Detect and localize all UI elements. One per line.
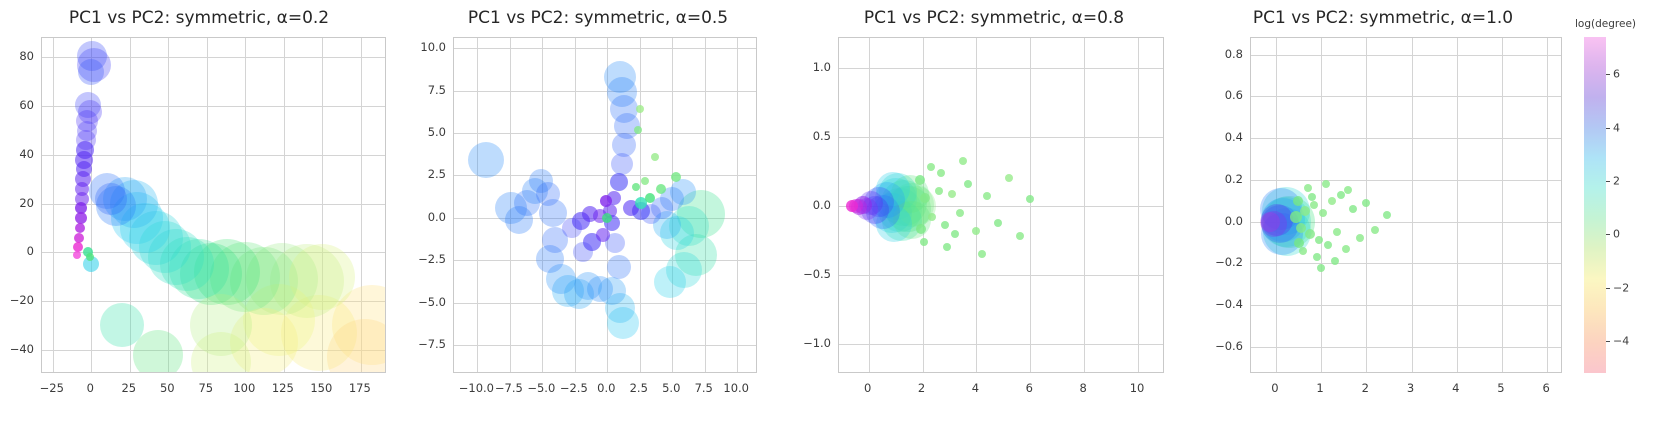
y-tick-label: −2.5 xyxy=(418,252,446,266)
gridline-horizontal xyxy=(1251,263,1561,264)
scatter-point xyxy=(1261,198,1305,242)
x-tick-label: −7.5 xyxy=(495,381,523,395)
y-tick-label: 0.4 xyxy=(1225,130,1243,144)
gridline-vertical xyxy=(607,38,608,372)
x-tick-label: 5.0 xyxy=(662,381,680,395)
scatter-point xyxy=(468,142,504,178)
y-tick-label: −0.2 xyxy=(1215,255,1243,269)
x-tick-label: 100 xyxy=(233,381,255,395)
x-tick-label: 6 xyxy=(1026,381,1033,395)
y-tick-label: 0 xyxy=(27,244,34,258)
scatter-point xyxy=(607,307,639,339)
x-tick-label: 10 xyxy=(1130,381,1145,395)
scatter-point xyxy=(111,192,163,244)
gridline-horizontal xyxy=(42,350,385,351)
x-tick-label: 0 xyxy=(1271,381,1278,395)
scatter-point xyxy=(95,183,127,215)
scatter-point xyxy=(1005,174,1013,182)
scatter-point xyxy=(978,250,986,258)
y-tick-label: 0.0 xyxy=(813,198,831,212)
x-tick-label: −2.5 xyxy=(560,381,588,395)
gridline-vertical xyxy=(477,38,478,372)
scatter-point xyxy=(859,191,883,215)
scatter-point xyxy=(607,77,637,107)
gridline-vertical xyxy=(1457,38,1458,372)
y-tick-label: −0.5 xyxy=(803,267,831,281)
scatter-point xyxy=(641,177,649,185)
colorbar-tickmark xyxy=(1606,341,1610,342)
x-tick-label: −10.0 xyxy=(459,381,494,395)
plot-area-2[interactable] xyxy=(453,37,757,373)
scatter-point xyxy=(598,277,626,305)
gridline-horizontal xyxy=(839,275,1163,276)
scatter-point xyxy=(190,294,252,356)
scatter-point xyxy=(1296,223,1306,233)
gridline-vertical xyxy=(361,38,362,372)
scatter-point xyxy=(866,195,900,229)
scatter-point xyxy=(76,110,98,132)
gridline-vertical xyxy=(737,38,738,372)
gridline-horizontal xyxy=(454,345,756,346)
x-tick-label: −5.0 xyxy=(527,381,555,395)
scatter-point xyxy=(943,243,951,251)
scatter-point xyxy=(994,219,1002,227)
scatter-point xyxy=(651,153,659,161)
scatter-point xyxy=(1331,257,1339,265)
scatter-point xyxy=(1324,241,1332,249)
x-tick-label: 0 xyxy=(864,381,871,395)
gridline-vertical xyxy=(1412,38,1413,372)
colorbar-tickmark xyxy=(1606,288,1610,289)
scatter-point xyxy=(635,197,647,209)
scatter-point xyxy=(607,191,621,205)
gridline-horizontal xyxy=(454,91,756,92)
gridline-horizontal xyxy=(454,218,756,219)
plot-area-4[interactable] xyxy=(1250,37,1562,373)
x-tick-label: 3 xyxy=(1407,381,1414,395)
scatter-point xyxy=(632,183,640,191)
x-tick-label: 2.5 xyxy=(630,381,648,395)
scatter-point xyxy=(1342,245,1350,253)
scatter-point xyxy=(941,221,949,229)
scatter-point xyxy=(890,183,934,227)
x-tick-label: 25 xyxy=(121,381,136,395)
scatter-point xyxy=(881,180,927,226)
scatter-point xyxy=(1261,205,1299,243)
gridline-vertical xyxy=(1366,38,1367,372)
scatter-point xyxy=(964,180,972,188)
scatter-point xyxy=(1383,211,1391,219)
scatter-point xyxy=(675,234,717,276)
scatter-point xyxy=(1328,197,1336,205)
scatter-point xyxy=(614,113,640,139)
gridline-vertical xyxy=(640,38,641,372)
scatter-point xyxy=(611,153,633,175)
x-tick-label: 4 xyxy=(972,381,979,395)
y-tick-label: −0.6 xyxy=(1215,339,1243,353)
scatter-point xyxy=(1337,191,1345,199)
scatter-point xyxy=(927,163,935,171)
scatter-point xyxy=(522,178,548,204)
colorbar-title: log(degree) xyxy=(1575,18,1636,30)
scatter-point xyxy=(1344,186,1352,194)
scatter-point xyxy=(103,177,147,221)
panel-3: PC1 vs PC2: symmetric, α=0.80246810−1.0−… xyxy=(798,0,1190,432)
gridline-vertical xyxy=(1138,38,1139,372)
scatter-point xyxy=(951,230,959,238)
scatter-point xyxy=(169,239,229,299)
gridline-vertical xyxy=(705,38,706,372)
scatter-point xyxy=(75,171,91,187)
x-tick-label: 6 xyxy=(1543,381,1550,395)
scatter-point xyxy=(656,184,666,194)
gridline-horizontal xyxy=(454,303,756,304)
scatter-point xyxy=(230,247,298,315)
scatter-point xyxy=(1262,187,1310,235)
y-tick-label: 40 xyxy=(19,147,34,161)
gridline-vertical xyxy=(1321,38,1322,372)
scatter-point xyxy=(1263,208,1311,256)
y-tick-label: 5.0 xyxy=(428,125,446,139)
x-tick-label: 150 xyxy=(310,381,332,395)
x-tick-label: 125 xyxy=(272,381,294,395)
scatter-point xyxy=(605,233,625,253)
colorbar: log(degree)−4−20246 xyxy=(1575,0,1656,432)
colorbar-tick-label: 6 xyxy=(1613,68,1620,81)
scatter-point xyxy=(583,233,601,251)
gridline-horizontal xyxy=(839,137,1163,138)
gridline-horizontal xyxy=(454,260,756,261)
y-tick-label: 2.5 xyxy=(428,167,446,181)
gridline-horizontal xyxy=(42,301,385,302)
panel-title-1: PC1 vs PC2: symmetric, α=0.2 xyxy=(0,8,398,28)
scatter-point xyxy=(861,196,889,224)
scatter-point xyxy=(281,295,357,371)
gridline-vertical xyxy=(923,38,924,372)
scatter-point xyxy=(76,161,92,177)
gridline-vertical xyxy=(1030,38,1031,372)
scatter-point xyxy=(75,92,101,118)
scatter-point xyxy=(536,182,560,206)
gridline-vertical xyxy=(245,38,246,372)
gridline-horizontal xyxy=(1251,138,1561,139)
scatter-point xyxy=(230,308,298,373)
scatter-point xyxy=(1261,213,1303,255)
figure-canvas: PC1 vs PC2: symmetric, α=0.2−25025507510… xyxy=(0,0,1656,432)
colorbar-tickmark xyxy=(1606,128,1610,129)
scatter-point xyxy=(75,223,85,233)
gridline-horizontal xyxy=(1251,55,1561,56)
scatter-point xyxy=(73,242,83,252)
scatter-point xyxy=(935,187,943,195)
scatter-point xyxy=(514,190,540,216)
plot-area-1[interactable] xyxy=(41,37,386,373)
scatter-point xyxy=(875,178,917,220)
scatter-point xyxy=(1333,228,1341,236)
scatter-point xyxy=(607,255,631,279)
scatter-point xyxy=(956,209,964,217)
colorbar-tickmark xyxy=(1606,234,1610,235)
scatter-point xyxy=(587,276,613,302)
scatter-point xyxy=(75,182,89,196)
scatter-point xyxy=(872,193,912,233)
scatter-point xyxy=(100,303,144,347)
scatter-point xyxy=(1371,226,1379,234)
y-tick-label: 80 xyxy=(19,49,34,63)
gridline-vertical xyxy=(168,38,169,372)
scatter-point xyxy=(77,121,97,141)
gridline-horizontal xyxy=(454,48,756,49)
scatter-point xyxy=(1305,229,1315,239)
scatter-point xyxy=(574,272,602,300)
scatter-point xyxy=(669,206,709,246)
scatter-point xyxy=(596,228,610,242)
scatter-point xyxy=(1293,196,1303,206)
scatter-point xyxy=(610,95,638,123)
scatter-point xyxy=(882,201,922,241)
gridline-vertical xyxy=(322,38,323,372)
scatter-point xyxy=(653,211,681,239)
scatter-point xyxy=(332,285,386,365)
y-tick-label: 0.6 xyxy=(1225,88,1243,102)
y-tick-label: 1.0 xyxy=(813,60,831,74)
scatter-point xyxy=(562,218,582,238)
y-tick-label: −20 xyxy=(10,293,34,307)
y-tick-label: −1.0 xyxy=(803,336,831,350)
scatter-point xyxy=(120,203,170,253)
scatter-point xyxy=(1356,234,1364,242)
y-tick-label: −5.0 xyxy=(418,295,446,309)
gridline-vertical xyxy=(1502,38,1503,372)
gridline-horizontal xyxy=(42,155,385,156)
gridline-vertical xyxy=(510,38,511,372)
x-tick-label: 0 xyxy=(87,381,94,395)
gridline-vertical xyxy=(976,38,977,372)
gridline-horizontal xyxy=(42,252,385,253)
panel-title-2: PC1 vs PC2: symmetric, α=0.5 xyxy=(398,8,798,28)
x-tick-label: 0.0 xyxy=(597,381,615,395)
scatter-point xyxy=(654,266,686,298)
scatter-point xyxy=(1294,238,1304,248)
colorbar-tick-label: 2 xyxy=(1613,175,1620,188)
gridline-vertical xyxy=(207,38,208,372)
scatter-point xyxy=(603,204,617,218)
scatter-point xyxy=(1322,180,1330,188)
colorbar-tick-label: 4 xyxy=(1613,121,1620,134)
scatter-point xyxy=(876,206,912,242)
scatter-point xyxy=(916,224,926,234)
y-tick-label: 10.0 xyxy=(420,40,446,54)
colorbar-tick-label: 0 xyxy=(1613,228,1620,241)
scatter-point xyxy=(243,284,315,356)
scatter-point xyxy=(1308,193,1316,201)
panel-title-4: PC1 vs PC2: symmetric, α=1.0 xyxy=(1190,8,1576,28)
scatter-point xyxy=(536,245,564,273)
scatter-point xyxy=(76,130,96,150)
y-tick-label: 0.0 xyxy=(428,210,446,224)
plot-area-3[interactable] xyxy=(838,37,1164,373)
scatter-point xyxy=(129,211,183,265)
colorbar-tickmark xyxy=(1606,74,1610,75)
scatter-point xyxy=(600,195,612,207)
scatter-point xyxy=(191,332,251,373)
gridline-vertical xyxy=(1547,38,1548,372)
gridline-vertical xyxy=(284,38,285,372)
gridline-horizontal xyxy=(42,106,385,107)
scatter-point xyxy=(677,190,725,238)
gridline-horizontal xyxy=(839,344,1163,345)
scatter-point xyxy=(1349,205,1357,213)
scatter-point xyxy=(86,253,94,261)
scatter-point xyxy=(78,100,102,124)
scatter-point xyxy=(856,198,878,220)
scatter-point xyxy=(582,206,598,222)
scatter-point xyxy=(920,193,930,203)
scatter-point xyxy=(959,157,967,165)
scatter-point xyxy=(246,243,318,315)
gridline-vertical xyxy=(91,38,92,372)
panel-4: PC1 vs PC2: symmetric, α=1.00123456−0.6−… xyxy=(1190,0,1576,432)
panel-2: PC1 vs PC2: symmetric, α=0.5−10.0−7.5−5.… xyxy=(398,0,798,432)
scatter-point xyxy=(1304,184,1312,192)
y-tick-label: −0.4 xyxy=(1215,297,1243,311)
y-tick-label: 0.8 xyxy=(1225,47,1243,61)
gridline-vertical xyxy=(869,38,870,372)
gridline-horizontal xyxy=(454,175,756,176)
colorbar-tickmark xyxy=(1606,181,1610,182)
x-tick-label: 2 xyxy=(1362,381,1369,395)
scatter-point xyxy=(605,293,635,323)
scatter-point xyxy=(645,193,655,203)
scatter-point xyxy=(623,200,639,216)
gridline-horizontal xyxy=(42,204,385,205)
scatter-point xyxy=(612,133,636,157)
x-tick-label: 5 xyxy=(1497,381,1504,395)
y-tick-label: 60 xyxy=(19,98,34,112)
scatter-point xyxy=(593,209,607,223)
scatter-point xyxy=(1300,206,1310,216)
gridline-horizontal xyxy=(1251,222,1561,223)
gridline-horizontal xyxy=(42,57,385,58)
y-tick-label: −7.5 xyxy=(418,337,446,351)
scatter-point xyxy=(148,229,204,285)
x-tick-label: 75 xyxy=(198,381,213,395)
scatter-point xyxy=(1313,253,1321,261)
y-tick-label: 20 xyxy=(19,196,34,210)
scatter-point xyxy=(983,192,991,200)
scatter-point xyxy=(670,179,696,205)
scatter-point xyxy=(851,199,867,215)
x-tick-label: −25 xyxy=(40,381,64,395)
scatter-point xyxy=(1310,201,1318,209)
scatter-point xyxy=(876,172,910,206)
scatter-point xyxy=(1016,232,1024,240)
scatter-point xyxy=(133,330,183,373)
x-tick-label: 8 xyxy=(1080,381,1087,395)
x-tick-label: 7.5 xyxy=(695,381,713,395)
scatter-point xyxy=(1299,247,1307,255)
x-tick-label: 1 xyxy=(1316,381,1323,395)
scatter-point xyxy=(1260,188,1302,230)
scatter-point xyxy=(546,264,576,294)
y-tick-label: 0.2 xyxy=(1225,172,1243,186)
scatter-point xyxy=(869,182,905,218)
gridline-vertical xyxy=(1276,38,1277,372)
scatter-point xyxy=(1261,211,1287,237)
scatter-point xyxy=(604,61,636,93)
y-tick-label: 0.0 xyxy=(1225,214,1243,228)
colorbar-tick-label: −2 xyxy=(1613,281,1629,294)
gridline-horizontal xyxy=(1251,180,1561,181)
panel-title-3: PC1 vs PC2: symmetric, α=0.8 xyxy=(798,8,1190,28)
gridline-horizontal xyxy=(1251,96,1561,97)
x-tick-label: 50 xyxy=(160,381,175,395)
scatter-point xyxy=(928,213,936,221)
scatter-point xyxy=(74,233,84,243)
colorbar-gradient xyxy=(1584,37,1606,373)
scatter-point xyxy=(878,188,922,232)
gridline-horizontal xyxy=(839,68,1163,69)
scatter-point xyxy=(542,227,568,253)
scatter-point xyxy=(641,204,661,224)
colorbar-tick-label: −4 xyxy=(1613,335,1629,348)
gridline-horizontal xyxy=(454,133,756,134)
gridline-horizontal xyxy=(1251,347,1561,348)
scatter-point xyxy=(270,244,344,318)
gridline-horizontal xyxy=(1251,305,1561,306)
x-tick-label: 10.0 xyxy=(723,381,749,395)
gridline-vertical xyxy=(130,38,131,372)
y-tick-label: 7.5 xyxy=(428,83,446,97)
gridline-vertical xyxy=(53,38,54,372)
scatter-point xyxy=(194,239,260,305)
x-tick-label: 175 xyxy=(349,381,371,395)
gridline-vertical xyxy=(672,38,673,372)
gridline-vertical xyxy=(542,38,543,372)
scatter-point xyxy=(937,169,945,177)
y-tick-label: 0.5 xyxy=(813,129,831,143)
scatter-point xyxy=(327,319,386,373)
y-tick-label: −40 xyxy=(10,342,34,356)
scatter-point xyxy=(948,190,956,198)
x-tick-label: 4 xyxy=(1452,381,1459,395)
scatter-point xyxy=(139,221,191,273)
scatter-point xyxy=(77,48,111,82)
gridline-vertical xyxy=(1084,38,1085,372)
panel-1: PC1 vs PC2: symmetric, α=0.2−25025507510… xyxy=(0,0,398,432)
scatter-point xyxy=(75,212,87,224)
scatter-point xyxy=(660,216,694,250)
scatter-point xyxy=(651,197,673,219)
scatter-point xyxy=(564,279,594,309)
gridline-vertical xyxy=(575,38,576,372)
gridline-horizontal xyxy=(839,206,1163,207)
x-tick-label: 2 xyxy=(918,381,925,395)
